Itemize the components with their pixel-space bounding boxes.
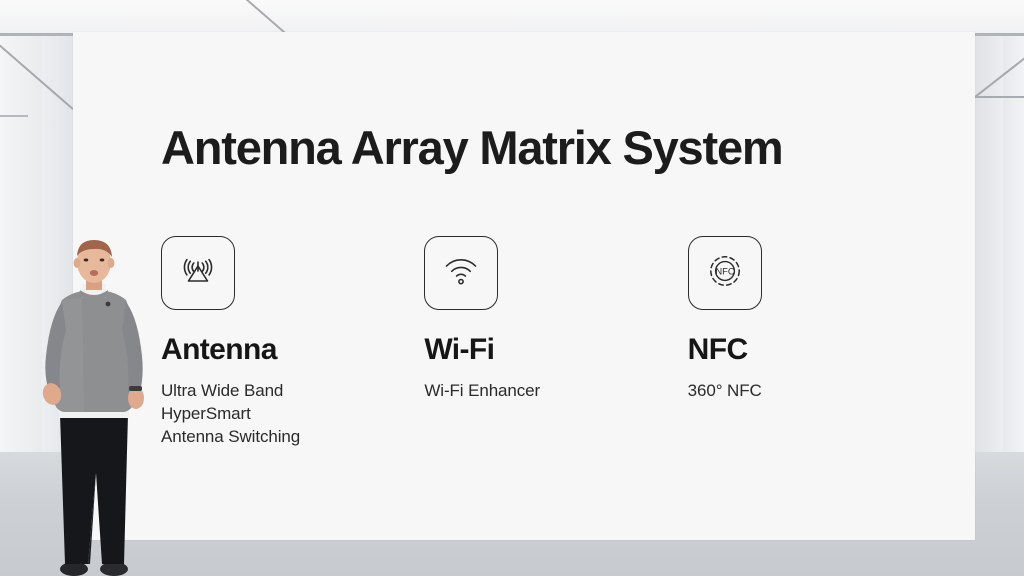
feature-nfc: NFC NFC 360° NFC [688,236,951,448]
feature-list: Antenna Ultra Wide Band HyperSmart Anten… [161,236,951,448]
feature-line: Ultra Wide Band [161,379,424,402]
presentation-stage: Antenna Array Matrix System [0,0,1024,576]
antenna-icon-box [161,236,235,310]
wifi-icon-box [424,236,498,310]
feature-lines-antenna: Ultra Wide Band HyperSmart Antenna Switc… [161,379,424,448]
antenna-tower-icon [176,249,220,298]
studio-ceiling [0,0,1024,34]
ceiling-edge-left-lower [0,115,28,117]
nfc-icon-label: NFC [715,265,734,276]
feature-lines-nfc: 360° NFC [688,379,951,402]
wall-panel-right-inner [975,32,1003,452]
feature-title-nfc: NFC [688,334,951,366]
feature-line: 360° NFC [688,379,951,402]
wall-panel-right-outer [1003,32,1024,452]
slide-panel: Antenna Array Matrix System [73,32,975,540]
presenter [32,238,164,576]
feature-line: Wi-Fi Enhancer [424,379,687,402]
feature-line: Antenna Switching [161,425,424,448]
feature-wifi: Wi-Fi Wi-Fi Enhancer [424,236,687,448]
ceiling-edge-left [0,33,73,36]
feature-title-wifi: Wi-Fi [424,334,687,366]
slide-title: Antenna Array Matrix System [161,120,782,175]
feature-lines-wifi: Wi-Fi Enhancer [424,379,687,402]
nfc-icon: NFC [703,249,747,298]
nfc-icon-box: NFC [688,236,762,310]
feature-line: HyperSmart [161,402,424,425]
feature-antenna: Antenna Ultra Wide Band HyperSmart Anten… [161,236,424,448]
wifi-icon [439,249,483,298]
ceiling-edge-right-lower [975,96,1024,98]
feature-title-antenna: Antenna [161,334,424,366]
ceiling-edge-right [975,33,1024,36]
